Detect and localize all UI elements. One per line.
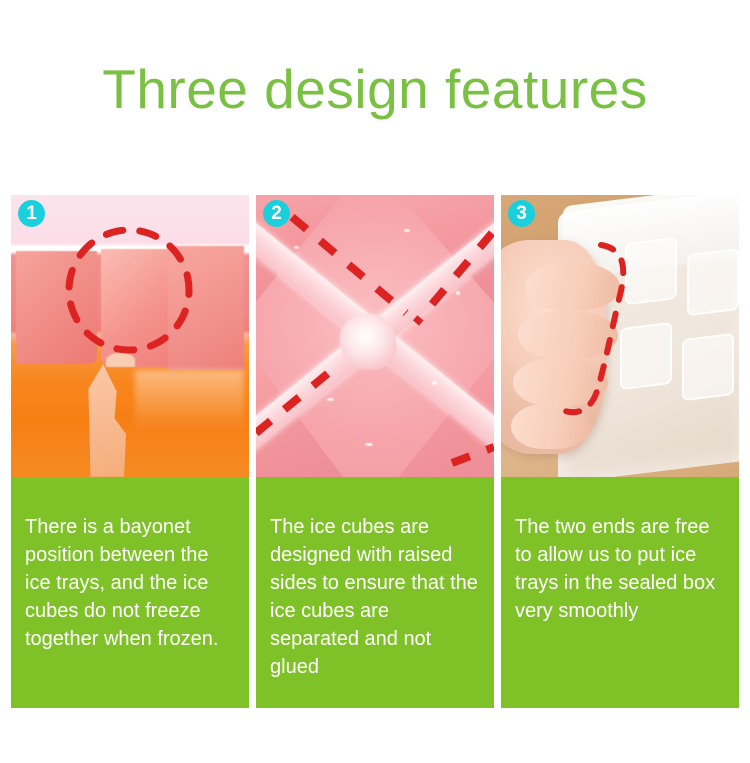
feature-photo-1: 1 xyxy=(11,195,249,477)
water-droplet xyxy=(294,246,299,249)
pink-ice-cube-right xyxy=(168,246,244,370)
feature-photo-3: 3 xyxy=(501,195,739,477)
feature-panel-3: 3 The two ends are free to allow us to p… xyxy=(501,195,739,708)
ice-tray-cell xyxy=(620,322,672,390)
orange-tray-highlight xyxy=(135,370,244,432)
feature-panels: 1 There is a bayonet position between th… xyxy=(11,195,739,708)
step-badge-3: 3 xyxy=(508,200,535,227)
ice-tray-cell xyxy=(682,333,734,401)
feature-panel-1: 1 There is a bayonet position between th… xyxy=(11,195,249,708)
feature-photo-2: 2 xyxy=(256,195,494,477)
bayonet-notch xyxy=(106,353,135,367)
water-droplet xyxy=(456,291,460,295)
ice-tray-cell xyxy=(625,237,677,305)
step-badge-1: 1 xyxy=(18,200,45,227)
finger xyxy=(525,263,620,311)
feature-caption-1: There is a bayonet position between the … xyxy=(11,477,249,708)
water-droplet xyxy=(404,229,410,232)
ice-tray-cell xyxy=(687,248,739,316)
finger xyxy=(513,359,608,407)
feature-caption-3: The two ends are free to allow us to put… xyxy=(501,477,739,708)
step-badge-2: 2 xyxy=(263,200,290,227)
page-title: Three design features xyxy=(0,58,750,120)
pink-ice-cube-left xyxy=(16,251,97,364)
finger xyxy=(511,404,592,449)
pink-ice-cube-center xyxy=(101,249,172,367)
feature-panel-2: 2 The ice cubes are designed with raised… xyxy=(256,195,494,708)
finger xyxy=(518,311,618,359)
feature-caption-2: The ice cubes are designed with raised s… xyxy=(256,477,494,708)
